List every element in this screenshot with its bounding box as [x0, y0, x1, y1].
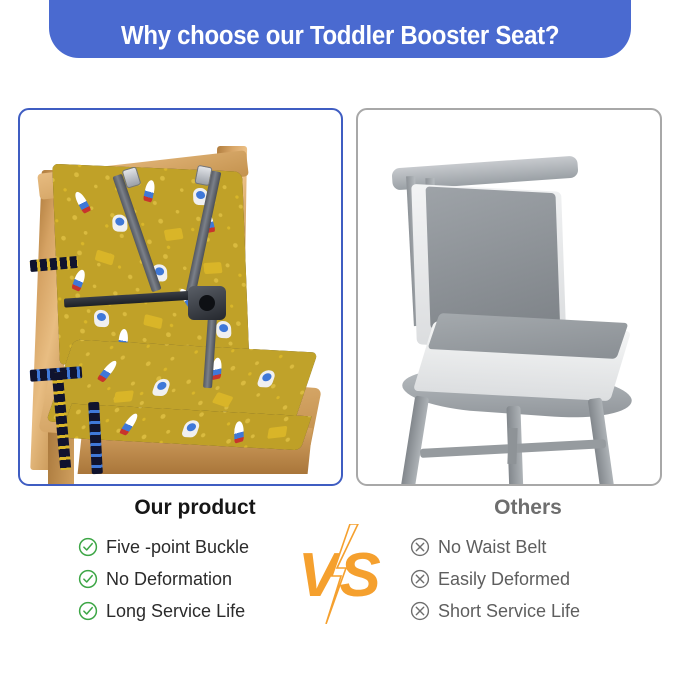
feature-label: Easily Deformed [438, 569, 570, 590]
x-circle-icon [410, 537, 430, 557]
feature-label: Long Service Life [106, 601, 245, 622]
x-circle-icon [410, 569, 430, 589]
feature-row: No Deformation [70, 563, 320, 595]
feature-row: Easily Deformed [408, 563, 648, 595]
versus-badge: VS [296, 524, 392, 624]
product-comparison-images [0, 108, 679, 488]
our-product-heading: Our product [70, 496, 320, 520]
feature-label: No Deformation [106, 569, 232, 590]
feature-row: Long Service Life [70, 595, 320, 627]
check-circle-icon [78, 601, 98, 621]
our-product-photo [20, 110, 341, 484]
feature-row: Five -point Buckle [70, 531, 320, 563]
feature-row: No Waist Belt [408, 531, 648, 563]
feature-row: Short Service Life [408, 595, 648, 627]
our-product-column: Our product Five -point Buckle No Deform… [70, 496, 320, 627]
competitor-heading: Others [408, 496, 648, 520]
grey-chair-stretcher-cross [507, 428, 517, 464]
feature-label: No Waist Belt [438, 537, 546, 558]
competitor-photo [358, 110, 660, 484]
x-circle-icon [410, 601, 430, 621]
competitor-column: Others No Waist Belt Easily Deformed [408, 496, 648, 627]
five-point-buckle [188, 286, 226, 320]
feature-label: Five -point Buckle [106, 537, 249, 558]
check-circle-icon [78, 537, 98, 557]
feature-label: Short Service Life [438, 601, 580, 622]
header-banner: Why choose our Toddler Booster Seat? [49, 0, 631, 58]
our-product-image-panel [18, 108, 343, 486]
competitor-image-panel [356, 108, 662, 486]
grey-chair-leg-1 [401, 395, 429, 486]
check-circle-icon [78, 569, 98, 589]
page-title: Why choose our Toddler Booster Seat? [121, 22, 559, 51]
